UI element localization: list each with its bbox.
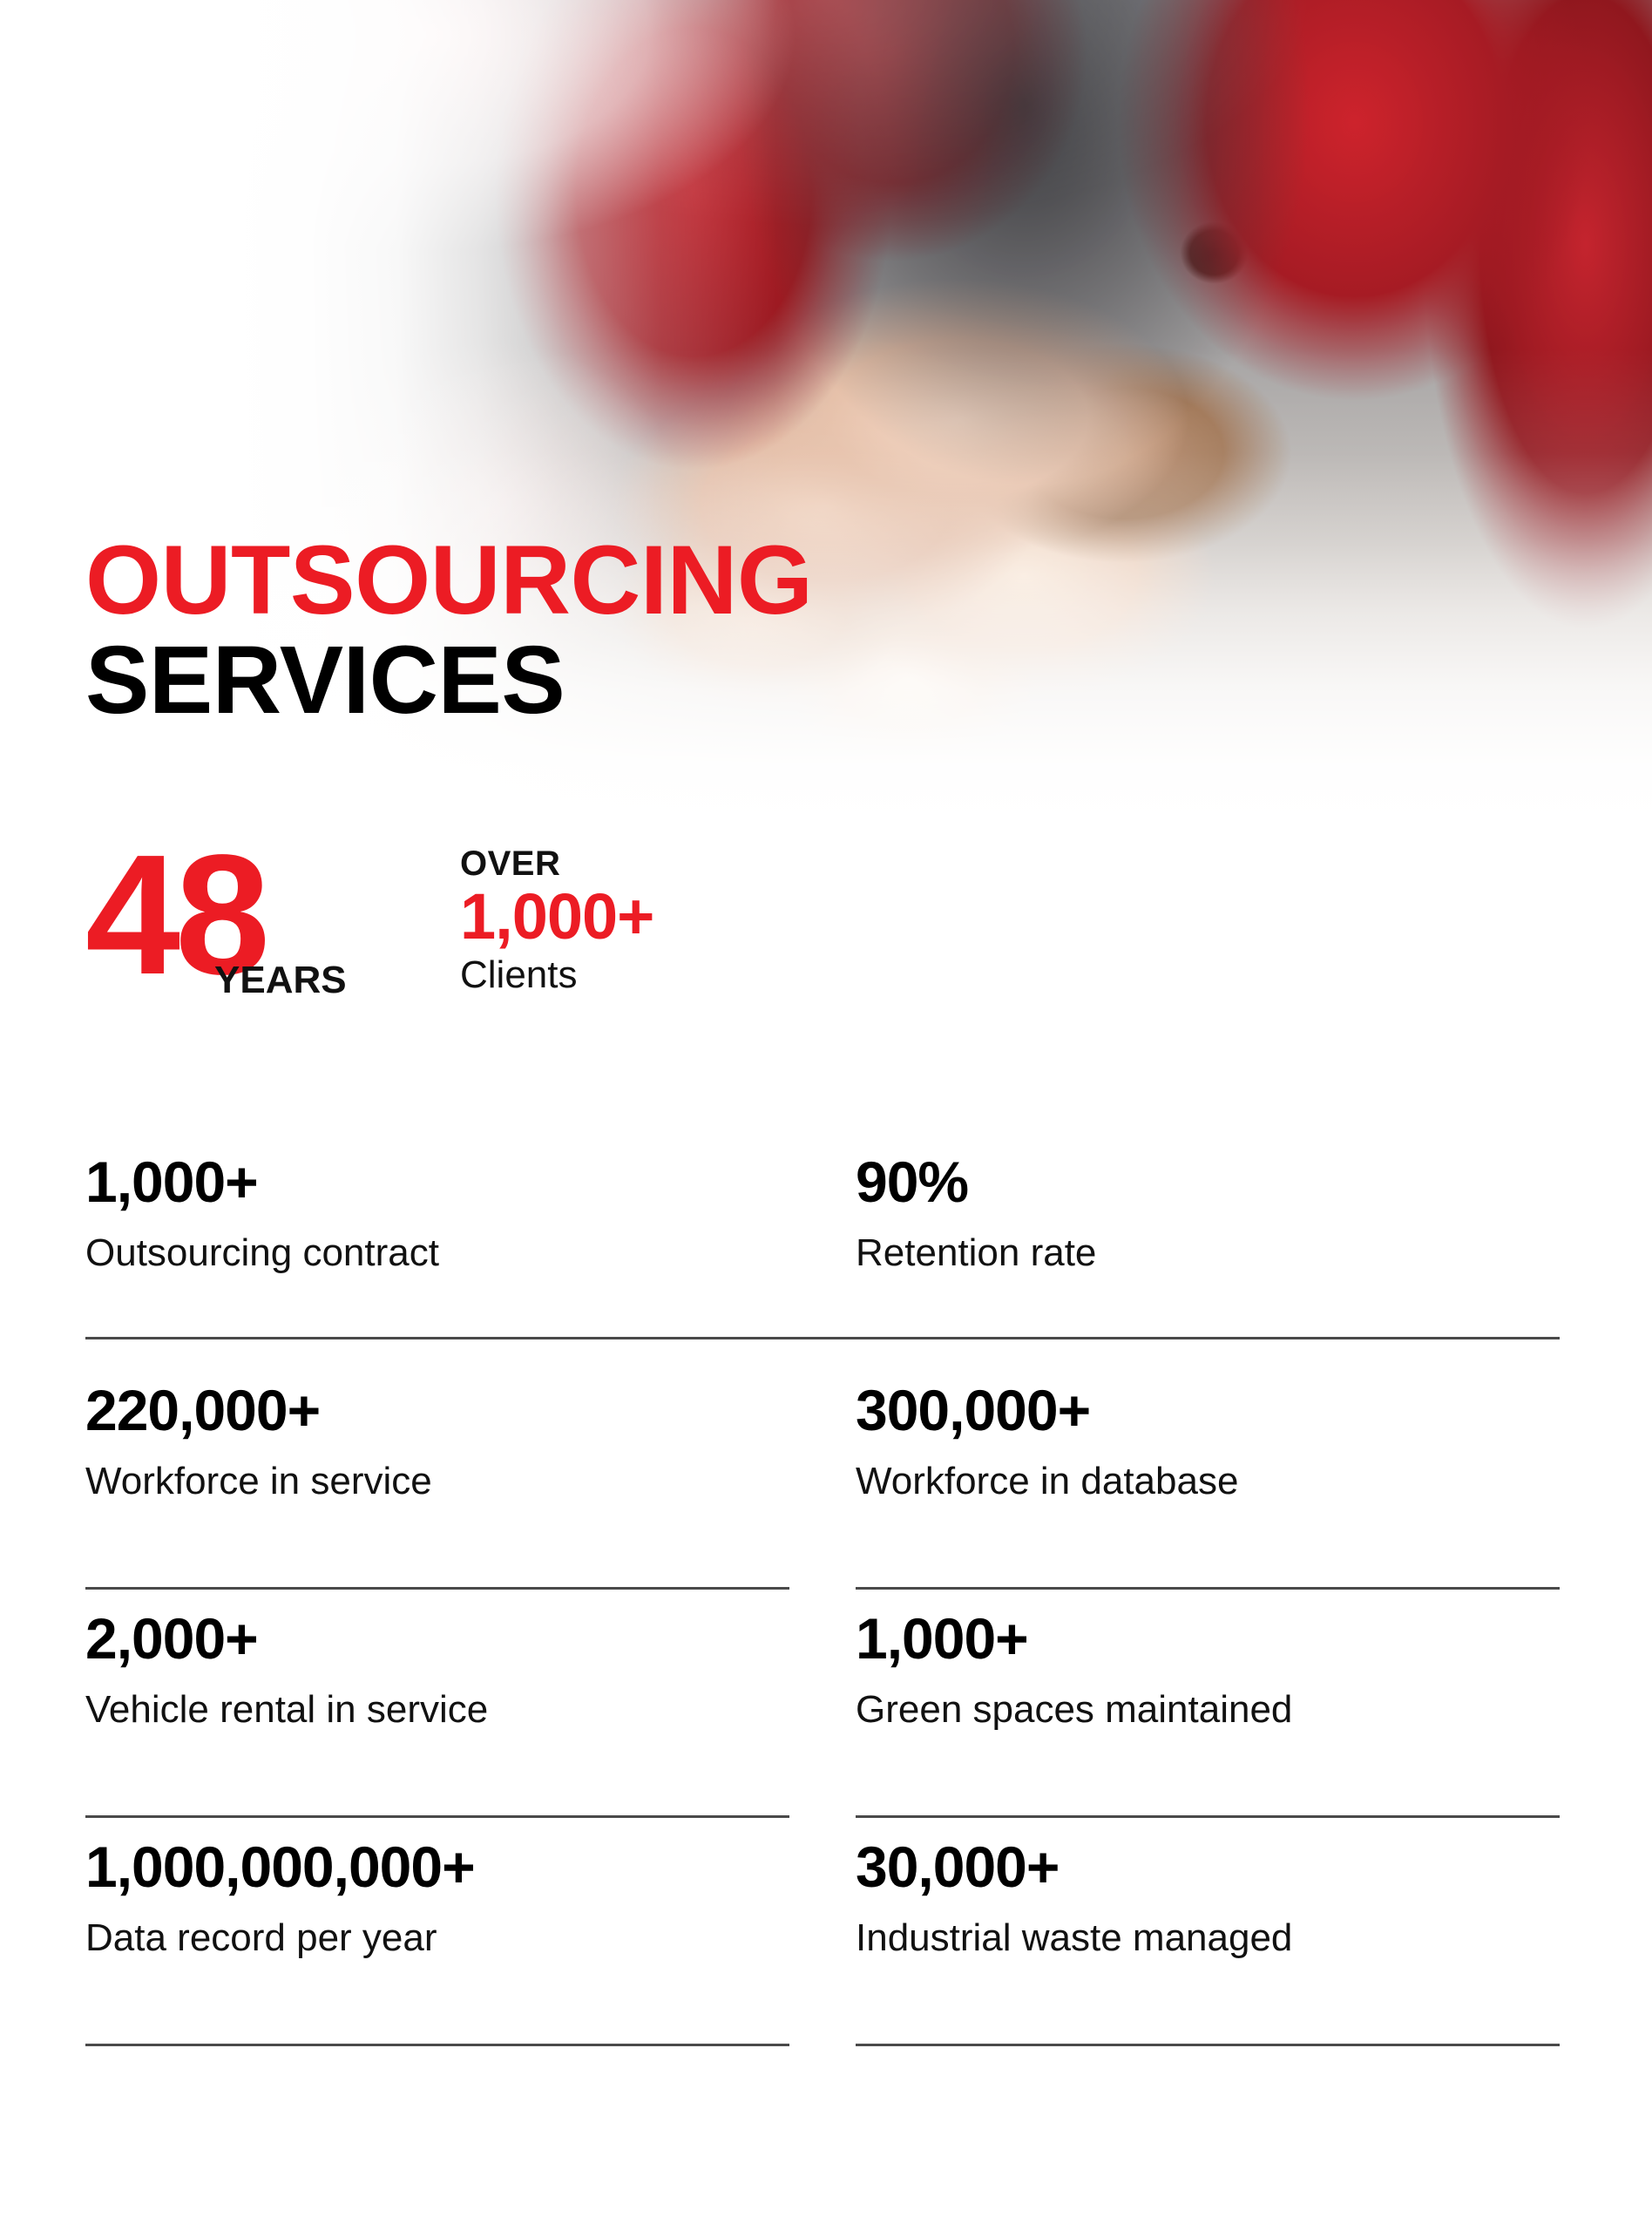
stats-first-row-divider [85,1337,1560,1339]
stat-label: Workforce in service [85,1460,789,1502]
clients-label: Clients [460,954,653,996]
stat-label: Outsourcing contract [85,1231,789,1274]
highlight-years: 48 YEARS [85,837,373,1028]
stat-label: Workforce in database [856,1460,1560,1502]
page-title: OUTSOURCING SERVICES [85,533,813,726]
stat-item: 220,000+ Workforce in service [85,1361,789,1590]
stat-item: 300,000+ Workforce in database [856,1361,1560,1590]
stat-label: Industrial waste managed [856,1916,1560,1959]
highlights-row: 48 YEARS OVER 1,000+ Clients [85,837,653,1028]
clients-number: 1,000+ [460,884,653,951]
page-content: OUTSOURCING SERVICES 48 YEARS OVER 1,000… [0,0,1652,2231]
stats-grid: 1,000+ Outsourcing contract 90% Retentio… [85,1133,1560,2046]
page-title-primary: OUTSOURCING [85,533,813,627]
page-title-secondary: SERVICES [85,634,813,727]
stat-value: 1,000+ [856,1609,1560,1669]
years-label: YEARS [214,961,347,1000]
clients-prefix: OVER [460,845,653,882]
stat-item: 1,000+ Green spaces maintained [856,1590,1560,1818]
stat-item: 90% Retention rate [856,1133,1560,1361]
stat-item: 1,000,000,000+ Data record per year [85,1818,789,2046]
stat-label: Data record per year [85,1916,789,1959]
stat-value: 90% [856,1152,1560,1212]
stat-item: 30,000+ Industrial waste managed [856,1818,1560,2046]
stat-value: 220,000+ [85,1380,789,1441]
stat-item: 2,000+ Vehicle rental in service [85,1590,789,1818]
stat-value: 1,000,000,000+ [85,1837,789,1897]
stat-value: 30,000+ [856,1837,1560,1897]
stat-value: 300,000+ [856,1380,1560,1441]
stat-value: 1,000+ [85,1152,789,1212]
highlight-clients: OVER 1,000+ Clients [460,837,653,996]
stat-value: 2,000+ [85,1609,789,1669]
stat-item: 1,000+ Outsourcing contract [85,1133,789,1361]
stat-label: Retention rate [856,1231,1560,1274]
stat-label: Vehicle rental in service [85,1688,789,1731]
stat-label: Green spaces maintained [856,1688,1560,1731]
